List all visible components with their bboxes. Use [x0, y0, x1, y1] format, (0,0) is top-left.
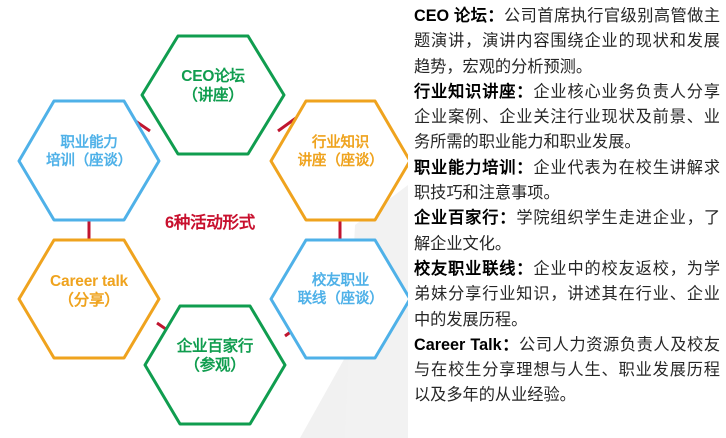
- hexagon-career-ability-training[interactable]: [19, 101, 159, 220]
- description-item: 校友职业联线：企业中的校友返校，为学弟妹分享行业知识，讲述其在行业、企业中的发展…: [414, 257, 720, 333]
- description-item: 行业知识讲座：企业核心业务负责人分享企业案例、企业关注行业现状及前景、业务所需的…: [414, 80, 720, 156]
- description-item: 职业能力培训：企业代表为在校生讲解求职技巧和注意事项。: [414, 156, 720, 207]
- description-term: 行业知识讲座: [414, 83, 516, 101]
- hexagon-career-talk[interactable]: [19, 240, 159, 358]
- description-item: CEO 论坛：公司首席执行官级别高管做主题演讲，演讲内容围绕企业的现状和发展趋势…: [414, 4, 720, 80]
- description-item: 企业百家行：学院组织学生走进企业，了解企业文化。: [414, 206, 720, 257]
- description-separator: ：: [502, 336, 519, 354]
- diagram-center-label: 6种活动形式: [150, 214, 270, 232]
- slide-canvas: CEO论坛 （讲座） 行业知识 讲座（座谈） 职业能力 培训（座谈） 校友职业 …: [0, 0, 726, 438]
- hexagon-ceo-forum[interactable]: [142, 36, 284, 154]
- description-term: Career Talk: [414, 336, 502, 354]
- description-separator: ：: [487, 7, 504, 25]
- description-separator: ：: [516, 159, 533, 177]
- description-term: 职业能力培训: [414, 159, 516, 177]
- hexagon-enterprise-visit[interactable]: [145, 306, 285, 424]
- hexagon-diagram: CEO论坛 （讲座） 行业知识 讲座（座谈） 职业能力 培训（座谈） 校友职业 …: [0, 0, 408, 438]
- description-panel: CEO 论坛：公司首席执行官级别高管做主题演讲，演讲内容围绕企业的现状和发展趋势…: [408, 0, 726, 438]
- description-term: 校友职业联线: [414, 260, 516, 278]
- description-separator: ：: [499, 209, 516, 227]
- description-term: 企业百家行: [414, 209, 499, 227]
- description-item: Career Talk：公司人力资源负责人及校友与在校生分享理想与人生、职业发展…: [414, 333, 720, 409]
- description-separator: ：: [516, 83, 533, 101]
- description-term: CEO 论坛: [414, 7, 487, 25]
- description-separator: ：: [516, 260, 533, 278]
